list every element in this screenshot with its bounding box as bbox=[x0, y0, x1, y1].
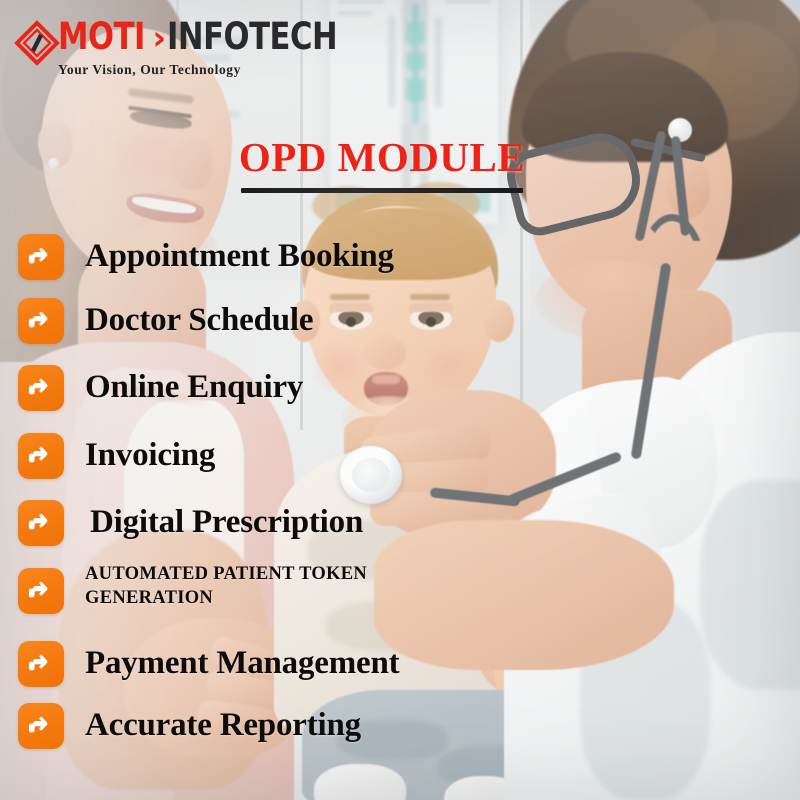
list-item[interactable]: Online Enquiry bbox=[18, 353, 578, 423]
brand-arrow-icon: › bbox=[153, 21, 167, 54]
pointing-hand-icon bbox=[18, 433, 64, 479]
brand-name-primary: MOTI bbox=[58, 18, 145, 55]
list-item-label: Payment Management bbox=[85, 647, 399, 681]
list-item[interactable]: Accurate Reporting bbox=[18, 695, 578, 757]
list-item[interactable]: Doctor Schedule bbox=[18, 288, 578, 353]
pointing-hand-icon bbox=[18, 365, 64, 411]
pointing-hand-icon bbox=[18, 703, 64, 749]
list-item-label: Doctor Schedule bbox=[85, 304, 313, 338]
list-item[interactable]: Digital Prescription bbox=[18, 489, 578, 557]
list-item-label: Digital Prescription bbox=[90, 506, 363, 540]
title-underline bbox=[241, 188, 523, 193]
list-item-label: Accurate Reporting bbox=[85, 709, 361, 743]
list-item[interactable]: Appointment Booking bbox=[18, 226, 578, 288]
list-item-label: Appointment Booking bbox=[85, 240, 394, 274]
feature-list: Appointment Booking Doctor Schedule Onli… bbox=[18, 226, 578, 757]
list-item-label: Online Enquiry bbox=[85, 371, 303, 405]
pointing-hand-icon bbox=[18, 568, 64, 614]
pointing-hand-icon bbox=[18, 234, 64, 280]
opd-module-poster: MOTI › INFOTECH Your Vision, Our Technol… bbox=[0, 0, 800, 800]
brand-tagline: Your Vision, Our Technology bbox=[58, 62, 241, 78]
brand-wordmark: MOTI › INFOTECH bbox=[58, 18, 352, 55]
pointing-hand-icon bbox=[18, 298, 64, 344]
pointing-hand-icon bbox=[18, 500, 64, 546]
page-title: OPD MODULE bbox=[232, 136, 532, 179]
list-item-label: AUTOMATED PATIENT TOKEN GENERATION bbox=[85, 563, 445, 610]
diamond-slash-icon bbox=[14, 20, 60, 66]
list-item[interactable]: Payment Management bbox=[18, 633, 578, 695]
brand-name-secondary: INFOTECH bbox=[167, 18, 337, 55]
list-item[interactable]: Invoicing bbox=[18, 423, 578, 489]
list-item-label: Invoicing bbox=[85, 439, 215, 473]
list-item[interactable]: AUTOMATED PATIENT TOKEN GENERATION bbox=[18, 557, 578, 633]
pointing-hand-icon bbox=[18, 641, 64, 687]
title-block: OPD MODULE bbox=[232, 136, 532, 193]
poster-content: MOTI › INFOTECH Your Vision, Our Technol… bbox=[0, 0, 800, 800]
brand-logo[interactable]: MOTI › INFOTECH Your Vision, Our Technol… bbox=[14, 18, 352, 66]
